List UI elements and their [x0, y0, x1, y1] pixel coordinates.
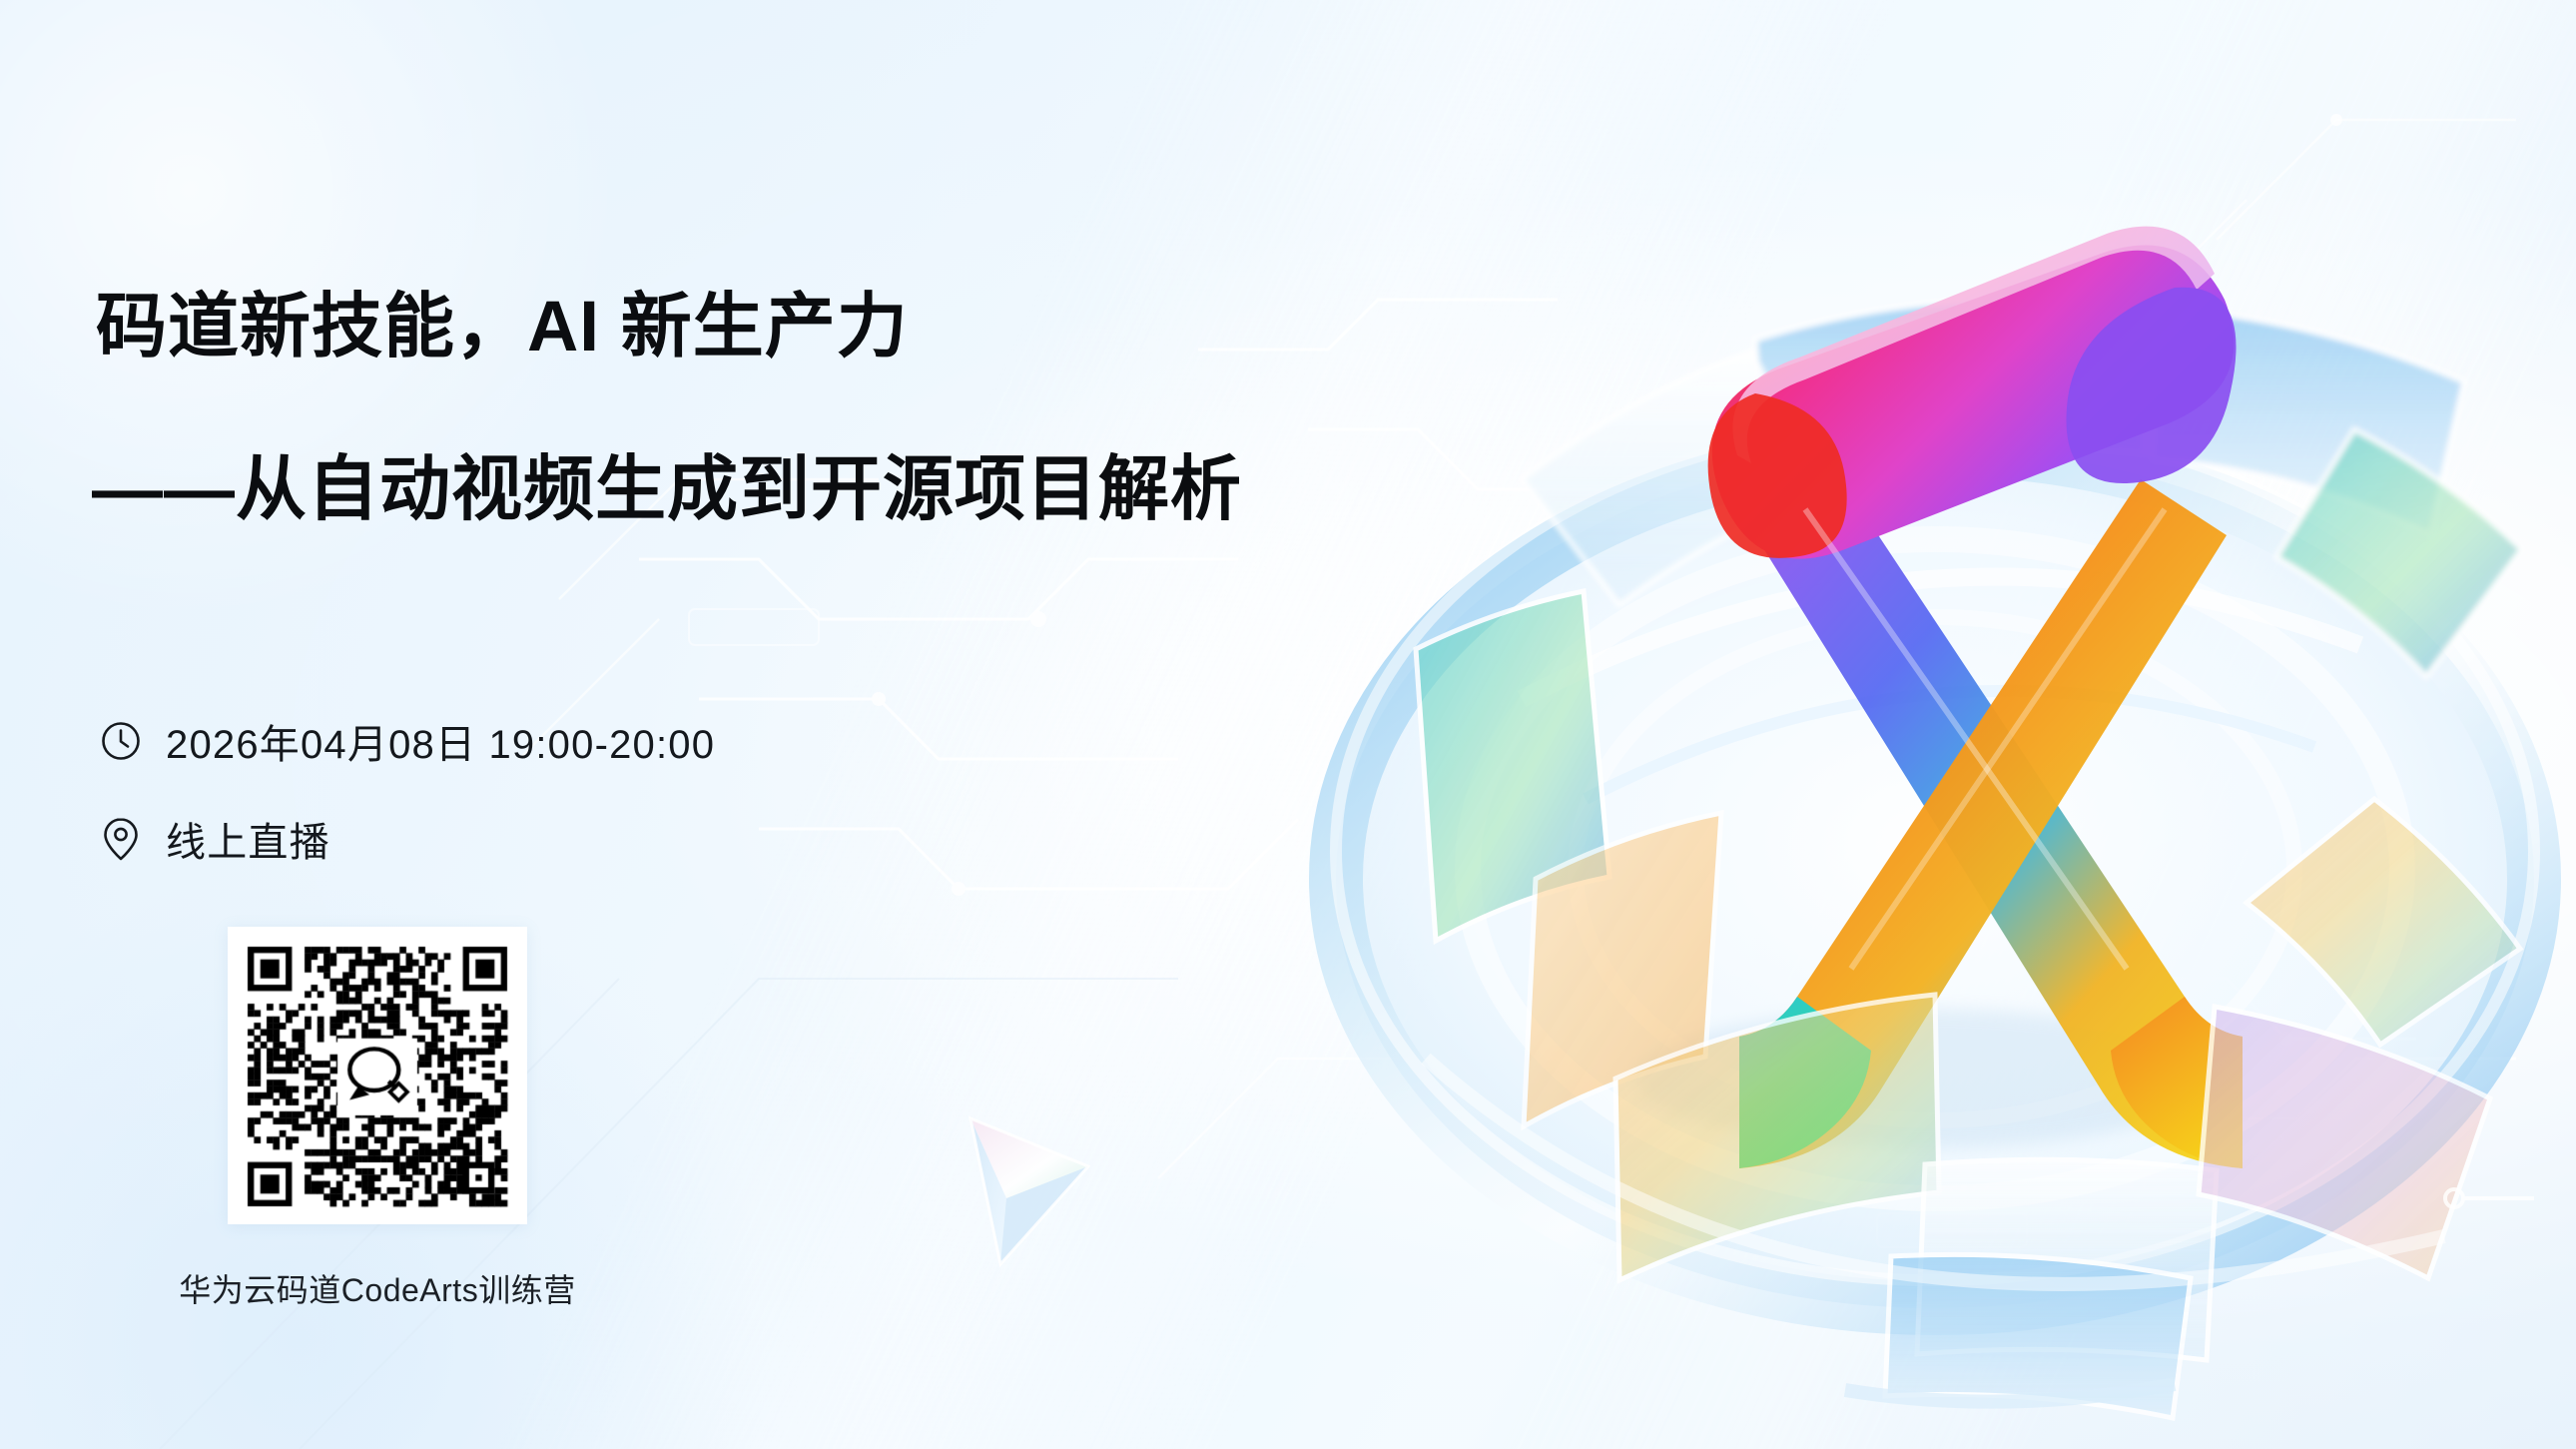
page-title: 码道新技能，AI 新生产力: [96, 292, 909, 362]
hero-3d-graphic: [1286, 180, 2576, 1449]
qr-caption: 华为云码道CodeArts训练营: [148, 1265, 607, 1311]
event-place-row: 线上直播: [100, 810, 330, 868]
event-poster: 码道新技能，AI 新生产力 ——从自动视频生成到开源项目解析 2026年04月0…: [0, 0, 2576, 1449]
page-subtitle: ——从自动视频生成到开源项目解析: [92, 454, 1242, 525]
event-time-text: 2026年04月08日 19:00-20:00: [166, 712, 715, 770]
text-content: 码道新技能，AI 新生产力 ——从自动视频生成到开源项目解析 2026年04月0…: [0, 0, 1248, 1449]
qr-code-canvas[interactable]: [228, 927, 527, 1224]
qr-code[interactable]: [228, 927, 527, 1224]
location-pin-icon: [100, 815, 142, 863]
circuit-node-icon: [2445, 1189, 2534, 1207]
event-time-row: 2026年04月08日 19:00-20:00: [100, 712, 715, 770]
clock-icon: [100, 720, 142, 762]
event-place-text: 线上直播: [166, 810, 330, 868]
